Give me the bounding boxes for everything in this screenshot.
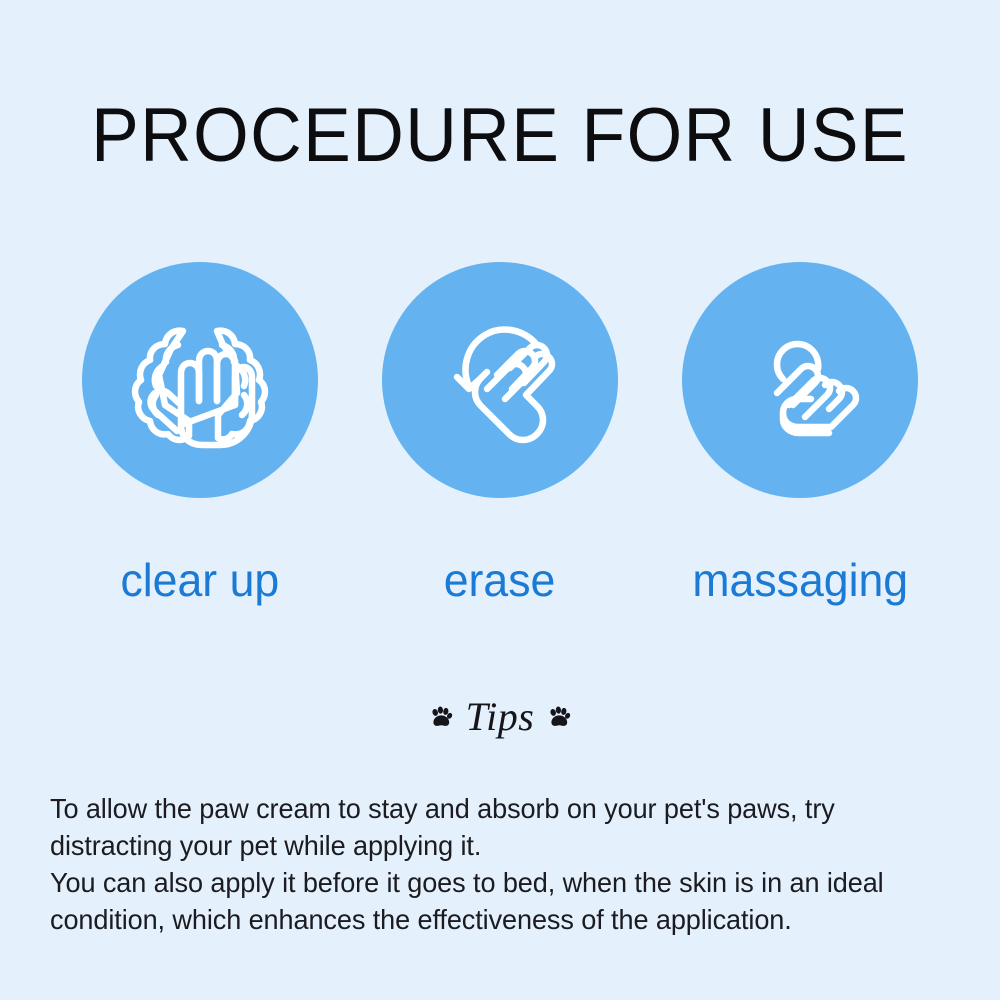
title-bar: PROCEDURE FOR USE xyxy=(0,44,1000,228)
tips-heading: Tips xyxy=(466,694,535,740)
tips-heading-row: Tips xyxy=(0,694,1000,740)
tip-paragraph: To allow the paw cream to stay and absor… xyxy=(50,790,948,864)
paw-print-icon xyxy=(428,704,454,730)
two-finger-tap-hand-icon xyxy=(725,305,875,455)
step-label-clear-up: clear up xyxy=(121,554,280,606)
step-circle-clear-up xyxy=(82,262,318,498)
page-title: PROCEDURE FOR USE xyxy=(91,95,909,177)
step-circle-massaging xyxy=(682,262,918,498)
step-clear-up: clear up xyxy=(82,262,318,606)
step-circle-erase xyxy=(382,262,618,498)
tips-body: To allow the paw cream to stay and absor… xyxy=(50,790,962,938)
tip-paragraph: You can also apply it before it goes to … xyxy=(50,864,948,938)
step-label-erase: erase xyxy=(444,554,556,606)
procedure-infographic: PROCEDURE FOR USE xyxy=(0,0,1000,1000)
step-massaging: massaging xyxy=(682,262,918,606)
paw-print-icon xyxy=(546,704,572,730)
hand-wipe-arrow-icon xyxy=(425,305,575,455)
step-erase: erase xyxy=(382,262,618,606)
steps-row: clear up xyxy=(0,262,1000,606)
step-label-massaging: massaging xyxy=(692,554,908,606)
hand-with-foam-icon xyxy=(125,305,275,455)
